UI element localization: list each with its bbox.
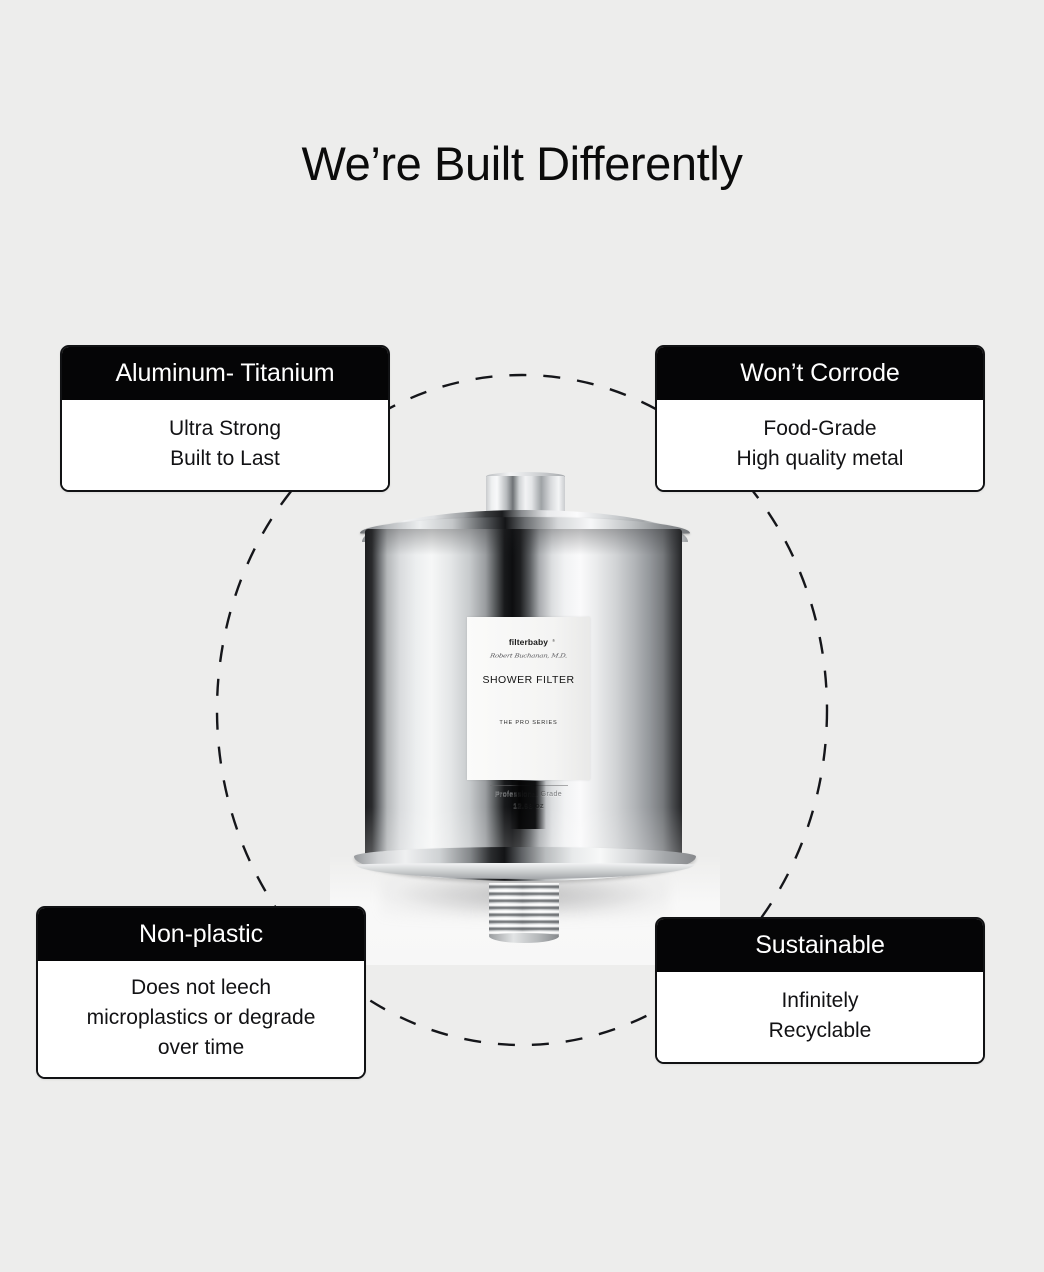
- reflection-band-overlay: [510, 781, 546, 829]
- callout-header-wont-corrode: Won’t Corrode: [657, 347, 983, 400]
- callout-card-wont-corrode: Won’t Corrode Food-Grade High quality me…: [655, 345, 985, 492]
- callout-line: Ultra Strong: [72, 414, 378, 444]
- callout-card-aluminum-titanium: Aluminum- Titanium Ultra Strong Built to…: [60, 345, 390, 492]
- body-top-shading: [365, 529, 682, 555]
- callout-header-sustainable: Sustainable: [657, 919, 983, 972]
- doctor-signature: Robert Buchanan, M.D.: [489, 653, 567, 659]
- product-label: filterbaby® Robert Buchanan, M.D. SHOWER…: [467, 617, 590, 780]
- callout-line: Food-Grade: [667, 414, 973, 444]
- callout-line: Does not leech: [44, 973, 358, 1003]
- callout-body-sustainable: Infinitely Recyclable: [657, 972, 983, 1062]
- callout-line: Built to Last: [72, 444, 378, 474]
- callout-line: microplastics or degrade: [44, 1003, 358, 1033]
- callout-line: Infinitely: [667, 986, 973, 1016]
- callout-line: High quality metal: [667, 444, 973, 474]
- brand-name: filterbaby: [509, 637, 548, 647]
- callout-line: Recyclable: [667, 1016, 973, 1046]
- callout-card-sustainable: Sustainable Infinitely Recyclable: [655, 917, 985, 1064]
- callout-header-aluminum-titanium: Aluminum- Titanium: [62, 347, 388, 400]
- callout-card-non-plastic: Non-plastic Does not leech microplastics…: [36, 906, 366, 1079]
- callout-body-aluminum-titanium: Ultra Strong Built to Last: [62, 400, 388, 490]
- callout-header-non-plastic: Non-plastic: [38, 908, 364, 961]
- trademark-mark: ®: [552, 638, 555, 643]
- page-title: We’re Built Differently: [0, 136, 1044, 191]
- label-series-name: THE PRO SERIES: [499, 720, 557, 726]
- callout-body-wont-corrode: Food-Grade High quality metal: [657, 400, 983, 490]
- callout-line: over time: [44, 1033, 358, 1063]
- label-product-name: SHOWER FILTER: [482, 674, 574, 686]
- infographic-canvas: We’re Built Differently filterbaby® Robe…: [0, 0, 1044, 1272]
- product-image-shower-filter: filterbaby® Robert Buchanan, M.D. SHOWER…: [330, 455, 720, 965]
- brand-wordmark: filterbaby®: [509, 637, 548, 647]
- threaded-outlet: [489, 883, 559, 939]
- callout-body-non-plastic: Does not leech microplastics or degrade …: [38, 961, 364, 1077]
